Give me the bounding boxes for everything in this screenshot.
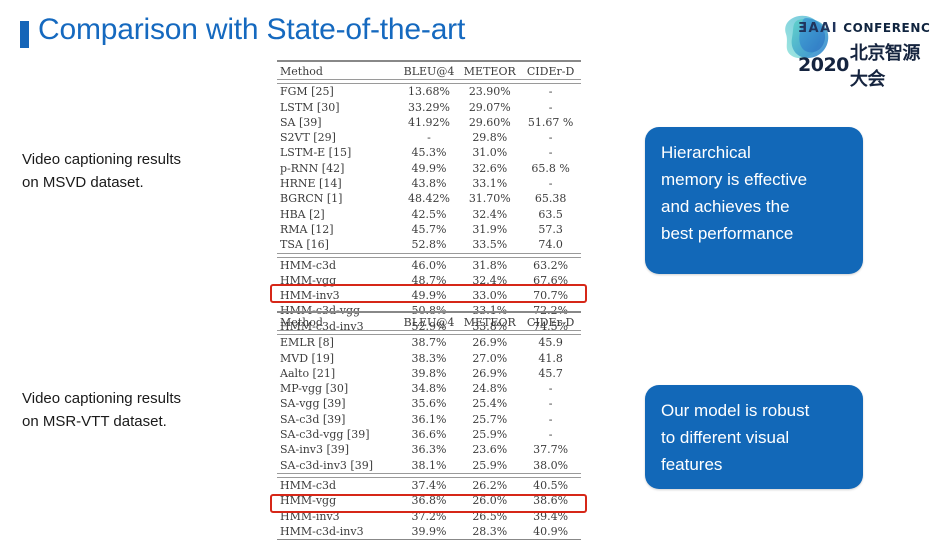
table-row: MVD [19]38.3%27.0%41.8	[277, 351, 581, 366]
cell-metric: 31.9%	[459, 222, 520, 237]
cell-method: HMM-inv3	[277, 288, 399, 303]
cell-metric: 32.6%	[459, 161, 520, 176]
cell-method: LSTM-E [15]	[277, 145, 399, 160]
cell-metric: 37.4%	[399, 477, 460, 493]
logo-text-block: ƎAAI CONFERENCE 2020 北京智源大会	[798, 21, 926, 59]
cell-method: S2VT [29]	[277, 130, 399, 145]
cell-metric: 31.0%	[459, 145, 520, 160]
cell-metric: 40.5%	[520, 477, 581, 493]
cell-metric: 32.4%	[459, 207, 520, 222]
results-table-msrvtt: MethodBLEU@4METEORCIDEr-DEMLR [8]38.7%26…	[277, 311, 581, 542]
cell-metric: 38.0%	[520, 458, 581, 474]
table-row: SA-inv3 [39]36.3%23.6%37.7%	[277, 442, 581, 457]
cell-method: SA-c3d [39]	[277, 412, 399, 427]
cell-metric: -	[520, 427, 581, 442]
cell-metric: 29.07%	[459, 100, 520, 115]
cell-metric: 33.0%	[459, 288, 520, 303]
table-msvd-tbody: MethodBLEU@4METEORCIDEr-DFGM [25]13.68%2…	[277, 61, 581, 337]
cell-metric: -	[520, 176, 581, 191]
cell-metric: 36.6%	[399, 427, 460, 442]
cell-method: p-RNN [42]	[277, 161, 399, 176]
cell-method: LSTM [30]	[277, 100, 399, 115]
table-row: SA-vgg [39]35.6%25.4%-	[277, 396, 581, 411]
cell-metric: 25.9%	[459, 458, 520, 474]
cell-metric: -	[520, 100, 581, 115]
callout-robust-model: Our model is robust to different visual …	[645, 385, 863, 489]
cell-metric: 48.42%	[399, 191, 460, 206]
cell-metric: 46.0%	[399, 257, 460, 273]
cell-metric: 37.7%	[520, 442, 581, 457]
cell-metric: -	[520, 130, 581, 145]
cell-metric: 39.9%	[399, 524, 460, 540]
conference-logo: ƎAAI CONFERENCE 2020 北京智源大会	[780, 14, 926, 64]
table-header-row: MethodBLEU@4METEORCIDEr-D	[277, 315, 581, 331]
cell-metric: 31.8%	[459, 257, 520, 273]
table-row: p-RNN [42]49.9%32.6%65.8 %	[277, 161, 581, 176]
cell-metric: 36.8%	[399, 493, 460, 508]
cell-metric: 23.6%	[459, 442, 520, 457]
cell-metric: 70.7%	[520, 288, 581, 303]
cell-method: BGRCN [1]	[277, 191, 399, 206]
table-row: SA-c3d [39]36.1%25.7%-	[277, 412, 581, 427]
column-header: BLEU@4	[399, 64, 460, 80]
cell-method: SA-vgg [39]	[277, 396, 399, 411]
table-row: TSA [16]52.8%33.5%74.0	[277, 237, 581, 253]
table-row: LSTM-E [15]45.3%31.0%-	[277, 145, 581, 160]
cell-metric: 41.8	[520, 351, 581, 366]
cell-metric: 38.3%	[399, 351, 460, 366]
cell-metric: 40.9%	[520, 524, 581, 540]
cell-method: TSA [16]	[277, 237, 399, 253]
column-header: METEOR	[459, 315, 520, 331]
cell-metric: 26.9%	[459, 335, 520, 351]
cell-metric: 25.4%	[459, 396, 520, 411]
table-row: Aalto [21]39.8%26.9%45.7	[277, 366, 581, 381]
table-row: HRNE [14]43.8%33.1%-	[277, 176, 581, 191]
cell-metric: 33.29%	[399, 100, 460, 115]
table-row: SA [39]41.92%29.60%51.67 %	[277, 115, 581, 130]
cell-method: SA-c3d-vgg [39]	[277, 427, 399, 442]
table-msrvtt-tbody: MethodBLEU@4METEORCIDEr-DEMLR [8]38.7%26…	[277, 312, 581, 542]
table-row: BGRCN [1]48.42%31.70%65.38	[277, 191, 581, 206]
cell-metric: 74.0	[520, 237, 581, 253]
column-header: METEOR	[459, 64, 520, 80]
cell-metric: 48.7%	[399, 273, 460, 288]
callout-hierarchical-memory: Hierarchical memory is effective and ach…	[645, 127, 863, 274]
cell-method: HMM-vgg	[277, 273, 399, 288]
results-table-msvd: MethodBLEU@4METEORCIDEr-DFGM [25]13.68%2…	[277, 60, 581, 337]
cell-metric: 33.5%	[459, 237, 520, 253]
table-msvd-body: MethodBLEU@4METEORCIDEr-DFGM [25]13.68%2…	[277, 60, 581, 337]
cell-method: MVD [19]	[277, 351, 399, 366]
cell-metric: 51.67 %	[520, 115, 581, 130]
table-header-row: MethodBLEU@4METEORCIDEr-D	[277, 64, 581, 80]
cell-method: SA-inv3 [39]	[277, 442, 399, 457]
cell-method: Aalto [21]	[277, 366, 399, 381]
column-header: BLEU@4	[399, 315, 460, 331]
table-row: RMA [12]45.7%31.9%57.3	[277, 222, 581, 237]
cell-metric: -	[520, 145, 581, 160]
cell-metric: 67.6%	[520, 273, 581, 288]
cell-method: RMA [12]	[277, 222, 399, 237]
table-msrvtt-body: MethodBLEU@4METEORCIDEr-DEMLR [8]38.7%26…	[277, 311, 581, 542]
cell-metric: 49.9%	[399, 161, 460, 176]
cell-metric: 38.7%	[399, 335, 460, 351]
logo-brand-text: ƎAAI	[798, 21, 838, 36]
column-header: Method	[277, 315, 399, 331]
caption-msrvtt: Video captioning results on MSR-VTT data…	[22, 387, 262, 433]
logo-conference-text: CONFERENCE	[843, 21, 930, 35]
cell-metric: 45.3%	[399, 145, 460, 160]
cell-metric: 49.9%	[399, 288, 460, 303]
cell-metric: 32.4%	[459, 273, 520, 288]
table-row: LSTM [30]33.29%29.07%-	[277, 100, 581, 115]
cell-metric: 34.8%	[399, 381, 460, 396]
cell-metric: -	[520, 84, 581, 100]
cell-metric: 38.1%	[399, 458, 460, 474]
table-row: HMM-c3d-inv339.9%28.3%40.9%	[277, 524, 581, 540]
table-row: MP-vgg [30]34.8%24.8%-	[277, 381, 581, 396]
table-row: EMLR [8]38.7%26.9%45.9	[277, 335, 581, 351]
table-row: HMM-vgg48.7%32.4%67.6%	[277, 273, 581, 288]
cell-metric: 28.3%	[459, 524, 520, 540]
cell-method: HBA [2]	[277, 207, 399, 222]
table-row: SA-c3d-inv3 [39]38.1%25.9%38.0%	[277, 458, 581, 474]
cell-method: SA-c3d-inv3 [39]	[277, 458, 399, 474]
cell-metric: 35.6%	[399, 396, 460, 411]
cell-metric: 63.2%	[520, 257, 581, 273]
cell-metric: 23.90%	[459, 84, 520, 100]
cell-metric: 45.7%	[399, 222, 460, 237]
cell-metric: 45.7	[520, 366, 581, 381]
table-row: HMM-inv349.9%33.0%70.7%	[277, 288, 581, 303]
cell-metric: 43.8%	[399, 176, 460, 191]
cell-metric: 42.5%	[399, 207, 460, 222]
cell-metric: 65.38	[520, 191, 581, 206]
table-row: HMM-c3d46.0%31.8%63.2%	[277, 257, 581, 273]
cell-metric: -	[520, 412, 581, 427]
cell-metric: 25.7%	[459, 412, 520, 427]
cell-method: HMM-vgg	[277, 493, 399, 508]
cell-metric: 57.3	[520, 222, 581, 237]
cell-metric: 38.6%	[520, 493, 581, 508]
column-header: CIDEr-D	[520, 315, 581, 331]
column-header: Method	[277, 64, 399, 80]
cell-metric: -	[520, 396, 581, 411]
cell-metric: -	[399, 130, 460, 145]
table-row: HMM-c3d37.4%26.2%40.5%	[277, 477, 581, 493]
logo-chinese-text: 北京智源大会	[850, 39, 926, 91]
column-header: CIDEr-D	[520, 64, 581, 80]
cell-metric: 29.8%	[459, 130, 520, 145]
cell-method: HMM-c3d-inv3	[277, 524, 399, 540]
cell-metric: 41.92%	[399, 115, 460, 130]
table-row: FGM [25]13.68%23.90%-	[277, 84, 581, 100]
cell-method: HMM-c3d	[277, 477, 399, 493]
cell-metric: 45.9	[520, 335, 581, 351]
cell-metric: 63.5	[520, 207, 581, 222]
cell-metric: 27.0%	[459, 351, 520, 366]
logo-year-text: 2020	[798, 54, 849, 76]
table-row: S2VT [29]-29.8%-	[277, 130, 581, 145]
cell-method: EMLR [8]	[277, 335, 399, 351]
cell-metric: 29.60%	[459, 115, 520, 130]
cell-metric: 65.8 %	[520, 161, 581, 176]
cell-method: HRNE [14]	[277, 176, 399, 191]
cell-metric: 36.1%	[399, 412, 460, 427]
cell-metric: 26.9%	[459, 366, 520, 381]
cell-metric: 26.0%	[459, 493, 520, 508]
cell-method: FGM [25]	[277, 84, 399, 100]
table-row: SA-c3d-vgg [39]36.6%25.9%-	[277, 427, 581, 442]
title-accent-bar	[20, 21, 29, 48]
cell-metric: 13.68%	[399, 84, 460, 100]
cell-method: SA [39]	[277, 115, 399, 130]
cell-metric: 24.8%	[459, 381, 520, 396]
cell-method: HMM-c3d	[277, 257, 399, 273]
cell-metric: 26.2%	[459, 477, 520, 493]
cell-metric: 25.9%	[459, 427, 520, 442]
cell-method: MP-vgg [30]	[277, 381, 399, 396]
cell-metric: 36.3%	[399, 442, 460, 457]
caption-msvd: Video captioning results on MSVD dataset…	[22, 148, 252, 194]
cell-metric: 33.1%	[459, 176, 520, 191]
cell-metric: 31.70%	[459, 191, 520, 206]
page-title: Comparison with State-of-the-art	[38, 13, 465, 47]
table-row: HBA [2]42.5%32.4%63.5	[277, 207, 581, 222]
cell-metric: 52.8%	[399, 237, 460, 253]
table-row: HMM-vgg36.8%26.0%38.6%	[277, 493, 581, 508]
cell-metric: 39.8%	[399, 366, 460, 381]
cell-metric: -	[520, 381, 581, 396]
